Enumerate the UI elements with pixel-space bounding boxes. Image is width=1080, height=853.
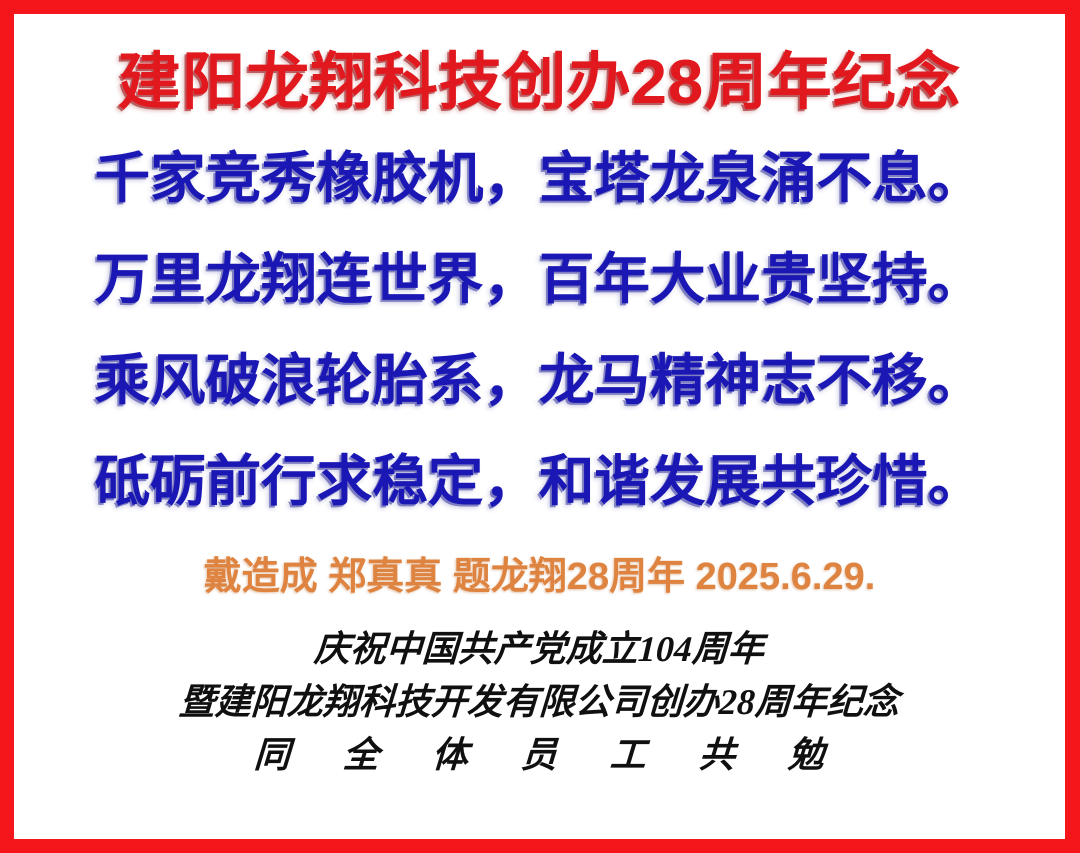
poster-title: 建阳龙翔科技创办28周年纪念 — [118, 50, 962, 115]
poster-content: 建阳龙翔科技创办28周年纪念 千家竞秀橡胶机，宝塔龙泉涌不息。 万里龙翔连世界，… — [14, 14, 1065, 839]
poem-line-4: 砥砺前行求稳定，和谐发展共珍惜。 — [95, 454, 984, 509]
footer-line-staff-encouragement: 同 全 体 员 工 共 勉 — [231, 733, 847, 778]
poster-border-right — [1065, 0, 1080, 853]
poem-signature: 戴造成 郑真真 题龙翔28周年 2025.6.29. — [204, 557, 876, 599]
poem-line-2: 万里龙翔连世界，百年大业贵坚持。 — [95, 252, 984, 307]
poster-footer: 庆祝中国共产党成立104周年 暨建阳龙翔科技开发有限公司创办28周年纪念 同 全… — [14, 627, 1065, 778]
poem-block: 千家竞秀橡胶机，宝塔龙泉涌不息。 万里龙翔连世界，百年大业贵坚持。 乘风破浪轮胎… — [14, 151, 1065, 509]
poster-border-top — [0, 0, 1080, 14]
poem-line-3: 乘风破浪轮胎系，龙马精神志不移。 — [95, 353, 984, 408]
poem-line-1: 千家竞秀橡胶机，宝塔龙泉涌不息。 — [95, 151, 984, 206]
poster-border-left — [0, 0, 14, 853]
footer-line-anniversary-party: 庆祝中国共产党成立104周年 — [313, 627, 765, 672]
footer-line-company-anniversary: 暨建阳龙翔科技开发有限公司创办28周年纪念 — [178, 680, 900, 725]
commemorative-poster: 建阳龙翔科技创办28周年纪念 千家竞秀橡胶机，宝塔龙泉涌不息。 万里龙翔连世界，… — [0, 0, 1080, 853]
poster-border-bottom — [0, 839, 1080, 853]
